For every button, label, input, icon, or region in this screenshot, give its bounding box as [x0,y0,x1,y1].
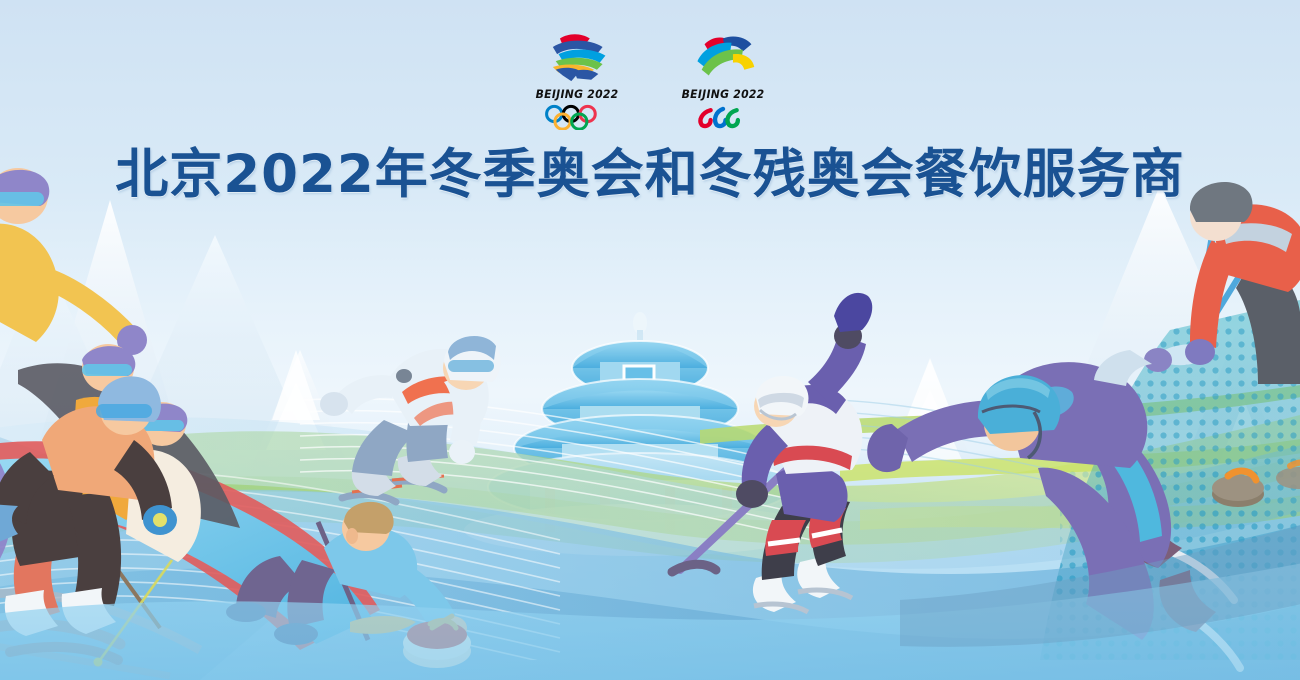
beijing-2022-paralympic-logo: BEIJING 2022 [673,30,773,130]
beijing-2022-olympic-logo: BEIJING 2022 [527,30,627,130]
winter-dream-emblem-icon [534,30,620,84]
flying-high-emblem-icon [680,30,766,84]
paralympic-wordmark: BEIJING 2022 [682,87,765,101]
olympic-rings-icon [539,104,615,130]
page-title: 北京2022年冬季奥会和冬残奥会餐饮服务商 [0,144,1300,206]
paralympic-agitos-icon [692,104,754,130]
beijing-2022-banner: BEIJING 2022 BEIJING 2022 [0,0,1300,680]
olympic-wordmark: BEIJING 2022 [536,87,619,101]
logo-row: BEIJING 2022 BEIJING 2022 [0,30,1300,130]
